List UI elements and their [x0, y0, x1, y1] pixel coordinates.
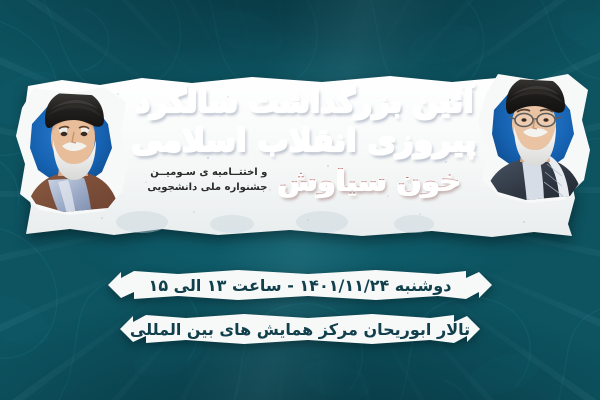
- festival-row: خون سیاوش و اختتــامیه ی سـومیــن جشنوار…: [118, 166, 490, 195]
- portrait-badge-right: [474, 72, 592, 204]
- event-datetime-text: دوشنبه ۱۴۰۱/۱۱/۲۴ - ساعت ۱۳ الی ۱۵: [149, 276, 452, 295]
- event-poster: آئین بزرگداشت سالگرد پیروزی انقلاب اسلام…: [0, 0, 600, 400]
- event-datetime-ribbon: دوشنبه ۱۴۰۱/۱۱/۲۴ - ساعت ۱۳ الی ۱۵: [108, 268, 492, 302]
- festival-note: و اختتــامیه ی سـومیــن جشنواره ملی دانش…: [147, 166, 267, 195]
- headline-line-2: پیروزی انقلاب اسلامی: [118, 126, 490, 157]
- portrait-badge-left: [12, 84, 130, 216]
- festival-title: خون سیاوش: [277, 166, 460, 195]
- festival-note-line-2: جشنواره ملی دانشجویی: [147, 181, 267, 196]
- headline-block: آئین بزرگداشت سالگرد پیروزی انقلاب اسلام…: [118, 78, 490, 234]
- portrait-imam-khomeini: [12, 84, 130, 216]
- festival-note-line-1: و اختتــامیه ی سـومیــن: [147, 166, 267, 181]
- event-venue-ribbon: تالار ابوریحان مرکز همایش های بین المللی: [120, 312, 480, 346]
- event-venue-text: تالار ابوریحان مرکز همایش های بین المللی: [130, 320, 470, 339]
- portrait-ayatollah-khamenei: [474, 72, 592, 204]
- headline-line-1: آئین بزرگداشت سالگرد: [118, 88, 490, 118]
